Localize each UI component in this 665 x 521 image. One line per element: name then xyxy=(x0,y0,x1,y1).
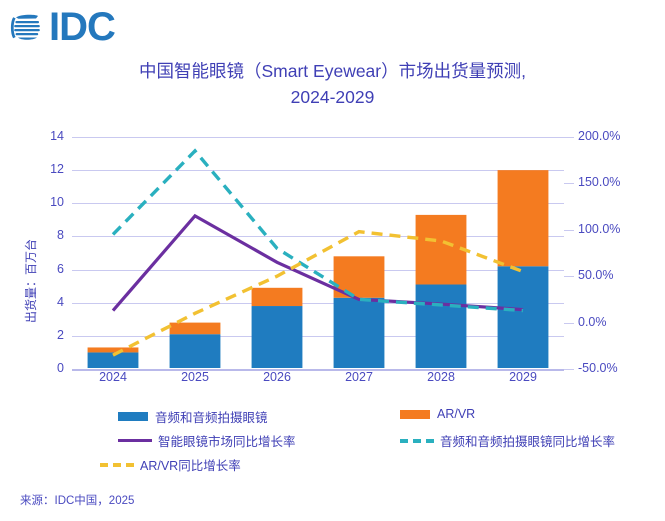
y-axis-right-tick-mark xyxy=(564,276,574,277)
bar-segment xyxy=(498,266,549,368)
chart-plot-area: 出货量：百万台 14121086420 200.0%150.0%100.0%50… xyxy=(0,128,665,393)
legend-color-swatch xyxy=(400,410,430,419)
idc-globe-icon xyxy=(10,8,48,46)
legend-label: AR/VR xyxy=(437,407,475,421)
y-axis-left-tick-label: 6 xyxy=(24,262,64,276)
legend-item[interactable]: 智能眼镜市场同比增长率 xyxy=(118,431,296,450)
y-axis-left-tick-label: 8 xyxy=(24,228,64,242)
chart-legend: 音频和音频拍摄眼镜AR/VR智能眼镜市场同比增长率音频和音频拍摄眼镜同比增长率A… xyxy=(0,405,665,485)
legend-color-swatch xyxy=(118,412,148,421)
legend-dashed-line-icon xyxy=(400,439,434,443)
legend-item[interactable]: 音频和音频拍摄眼镜 xyxy=(118,407,268,426)
legend-label: 音频和音频拍摄眼镜同比增长率 xyxy=(440,431,615,450)
source-note: 来源：IDC中国，2025 xyxy=(20,492,134,508)
x-axis-tick-label: 2028 xyxy=(400,370,482,384)
y-axis-right-tick-mark xyxy=(564,137,574,138)
x-axis-tick-label: 2026 xyxy=(236,370,318,384)
y-axis-right-tick-label: 200.0% xyxy=(578,129,638,143)
x-axis-tick-label: 2025 xyxy=(154,370,236,384)
bar-segment xyxy=(334,298,385,368)
y-axis-right-tick-mark xyxy=(564,323,574,324)
x-axis-tick-label: 2024 xyxy=(72,370,154,384)
bar-segment xyxy=(252,306,303,368)
legend-solid-line-icon xyxy=(118,439,152,442)
chart-title: 中国智能眼镜（Smart Eyewear）市场出货量预测, 2024-2029 xyxy=(40,58,625,110)
y-axis-left-tick-label: 0 xyxy=(24,361,64,375)
legend-item[interactable]: AR/VR xyxy=(400,407,475,421)
bar-segment xyxy=(252,288,303,306)
chart-title-line2: 2024-2029 xyxy=(40,84,625,110)
idc-wordmark: IDC xyxy=(49,8,115,46)
y-axis-right-tick-mark xyxy=(564,230,574,231)
y-axis-left-tick-label: 10 xyxy=(24,195,64,209)
legend-label: 智能眼镜市场同比增长率 xyxy=(158,431,296,450)
bar-segment xyxy=(416,215,467,285)
legend-item[interactable]: 音频和音频拍摄眼镜同比增长率 xyxy=(400,431,615,450)
y-axis-right-tick-label: 50.0% xyxy=(578,268,638,282)
bar-segment xyxy=(88,347,139,352)
legend-dashed-line-icon xyxy=(100,463,134,467)
legend-label: AR/VR同比增长率 xyxy=(140,455,241,474)
bar-segment xyxy=(498,170,549,266)
y-axis-left-tick-label: 2 xyxy=(24,328,64,342)
y-axis-right-tick-label: 100.0% xyxy=(578,222,638,236)
bar-segment xyxy=(170,323,221,335)
x-axis-tick-label: 2027 xyxy=(318,370,400,384)
legend-label: 音频和音频拍摄眼镜 xyxy=(155,407,268,426)
bar-segment xyxy=(416,284,467,368)
y-axis-right-tick-mark xyxy=(564,183,574,184)
y-axis-right-tick-label: 150.0% xyxy=(578,175,638,189)
y-axis-right-tick-label: -50.0% xyxy=(578,361,638,375)
y-axis-left-tick-label: 14 xyxy=(24,129,64,143)
chart-title-line1: 中国智能眼镜（Smart Eyewear）市场出货量预测, xyxy=(139,61,526,81)
idc-logo: IDC xyxy=(10,8,115,46)
y-axis-left-tick-label: 4 xyxy=(24,295,64,309)
legend-item[interactable]: AR/VR同比增长率 xyxy=(100,455,241,474)
bar-segment xyxy=(170,334,221,368)
x-axis-tick-label: 2029 xyxy=(482,370,564,384)
y-axis-right-tick-mark xyxy=(564,369,574,370)
y-axis-left-tick-label: 12 xyxy=(24,162,64,176)
y-axis-right-tick-label: 0.0% xyxy=(578,315,638,329)
y-axis-left-title: 出货量：百万台 xyxy=(22,239,39,323)
chart-graphics xyxy=(72,128,564,368)
